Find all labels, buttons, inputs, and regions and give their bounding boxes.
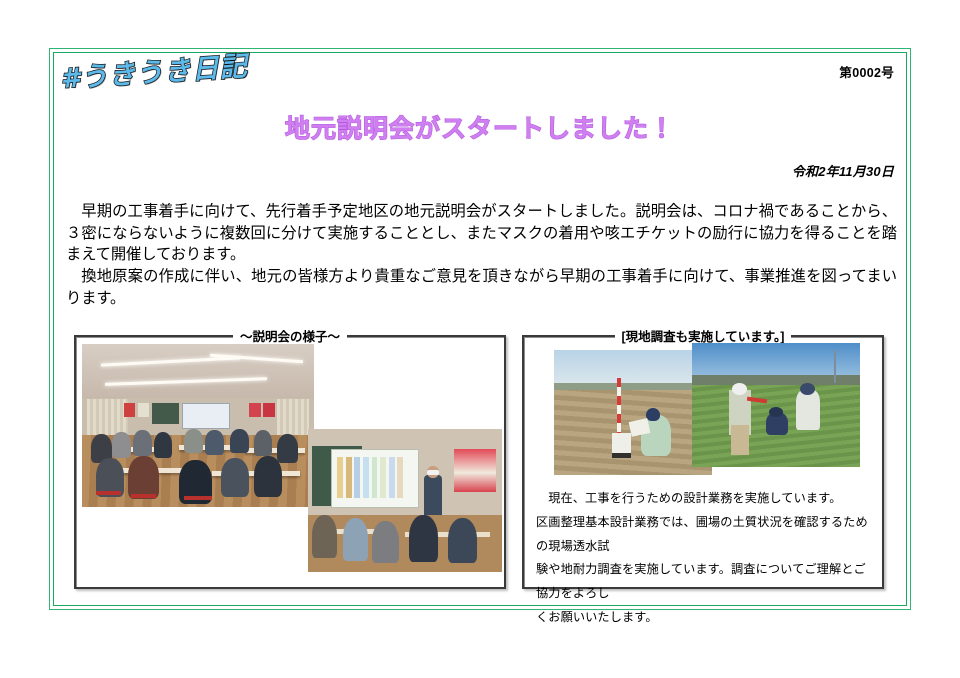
page-border-frame: #うきうき日記 第0002号 地元説明会がスタートしました！ 令和2年11月30… bbox=[49, 48, 911, 610]
body-copy: 早期の工事着手に向けて、先行着手予定地区の地元説明会がスタートしました。説明会は… bbox=[66, 201, 897, 310]
body-paragraph-2: 換地原案の作成に伴い、地元の皆様方より貴重なご意見を頂きながら早期の工事着手に向… bbox=[66, 266, 897, 309]
page-title: 地元説明会がスタートしました！ bbox=[50, 109, 910, 145]
photo-panel-field-survey-caption-text: [現地調査も実施しています。] bbox=[615, 330, 792, 344]
field-survey-line-1: 現在、工事を行うための設計業務を実施しています。 bbox=[536, 487, 870, 511]
field-survey-line-2: 区画整理基本設計業務では、圃場の土質状況を確認するための現場透水試 bbox=[536, 511, 870, 559]
photo-panel-field-survey: [現地調査も実施しています。] 現在、工事を行うための設計業務を実施しています。… bbox=[522, 335, 884, 589]
issue-number: 第0002号 bbox=[839, 62, 894, 81]
field-survey-line-3: 験や地耐力調査を実施しています。調査についてご理解とご協力をよろし bbox=[536, 558, 870, 606]
body-paragraph-1: 早期の工事着手に向けて、先行着手予定地区の地元説明会がスタートしました。説明会は… bbox=[66, 201, 897, 266]
issue-date: 令和2年11月30日 bbox=[792, 161, 894, 180]
briefing-room-audience-photo bbox=[82, 344, 314, 507]
field-permeability-test-photo bbox=[554, 350, 712, 475]
field-survey-description: 現在、工事を行うための設計業務を実施しています。 区画整理基本設計業務では、圃場… bbox=[536, 487, 870, 630]
presenter-with-projector-photo bbox=[308, 429, 502, 572]
photo-panel-briefing-caption: ～説明会の様子～ bbox=[76, 326, 504, 345]
field-bearing-capacity-survey-photo bbox=[692, 343, 860, 467]
photo-panel-briefing-caption-text: ～説明会の様子～ bbox=[233, 330, 347, 344]
field-survey-line-4: くお願いいたします。 bbox=[536, 606, 870, 630]
photo-panel-briefing: ～説明会の様子～ bbox=[74, 335, 506, 589]
